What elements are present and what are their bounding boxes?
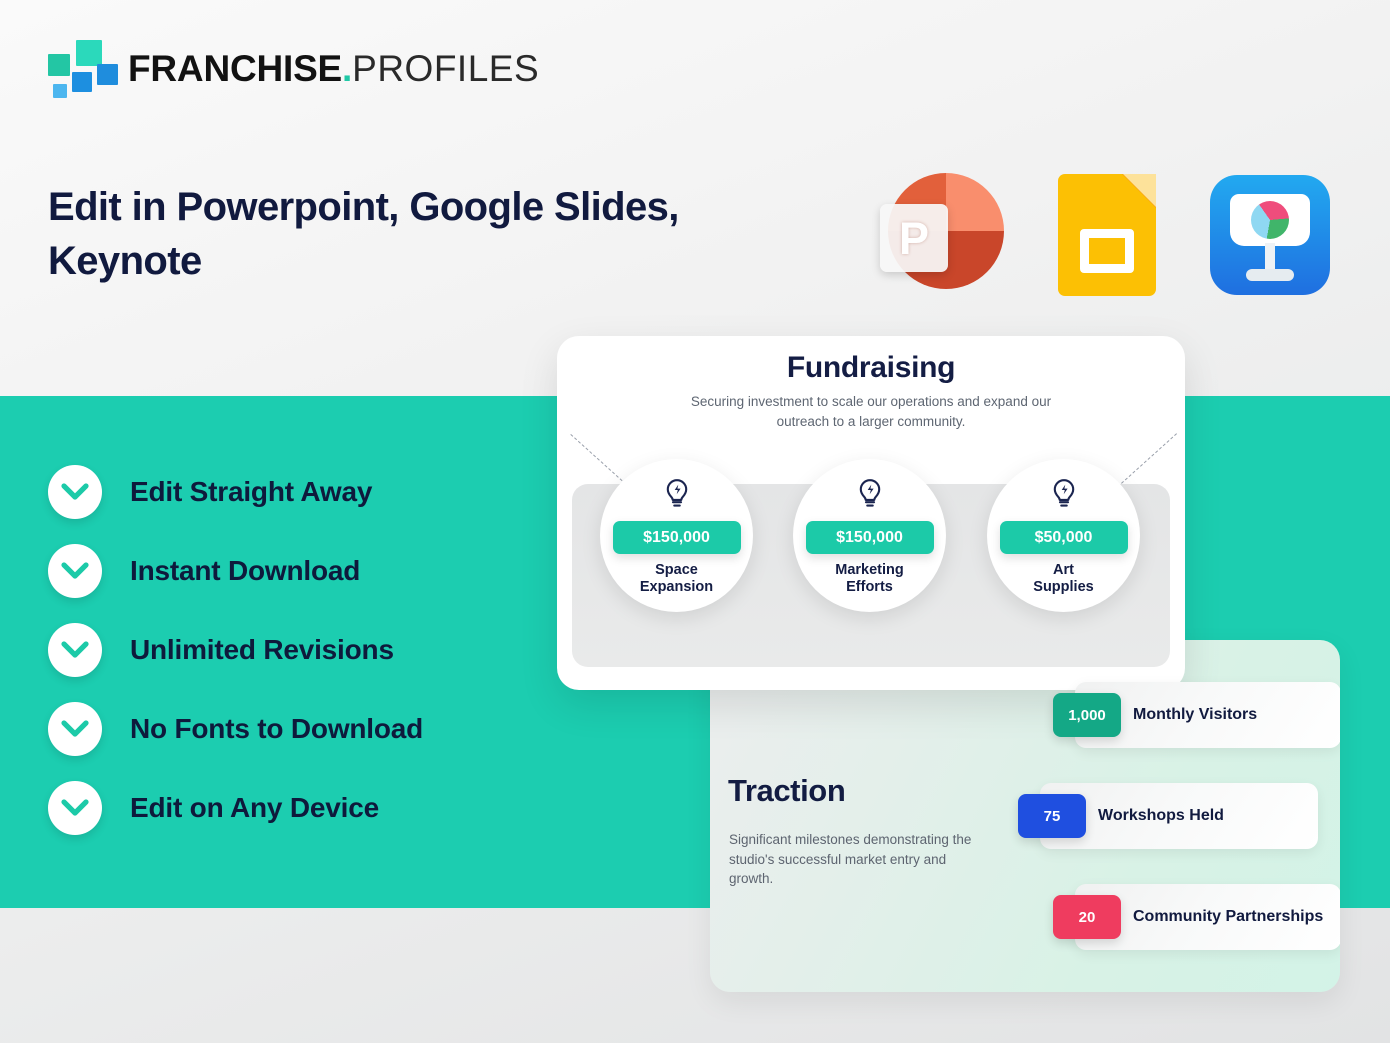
node-caption-line1: Art: [1053, 562, 1074, 578]
logo-wordmark: FRANCHISE.PROFILES: [128, 50, 539, 87]
supported-apps-row: P: [880, 173, 1330, 297]
feature-label: Edit on Any Device: [130, 792, 379, 824]
brand-logo[interactable]: FRANCHISE.PROFILES: [48, 40, 539, 96]
fundraising-node[interactable]: $150,000 Space Expansion: [600, 459, 753, 612]
feature-item-no-fonts-to-download[interactable]: No Fonts to Download: [48, 702, 423, 756]
page-headline: Edit in Powerpoint, Google Slides, Keyno…: [48, 180, 748, 289]
node-caption-line2: Efforts: [846, 579, 893, 595]
logo-squares-icon: [48, 40, 110, 96]
traction-title: Traction: [728, 773, 845, 809]
metric-value-badge: 75: [1018, 794, 1086, 838]
lightbulb-icon: [664, 478, 690, 515]
powerpoint-icon: P: [880, 173, 1004, 297]
chevron-down-icon: [48, 465, 102, 519]
traction-metric-row: 75 Workshops Held: [1018, 783, 1318, 849]
metric-label: Workshops Held: [1098, 806, 1224, 826]
node-caption-line2: Supplies: [1033, 579, 1093, 595]
feature-label: Instant Download: [130, 555, 360, 587]
traction-slide-preview[interactable]: Traction Significant milestones demonstr…: [710, 640, 1340, 992]
node-caption-line2: Expansion: [640, 579, 713, 595]
feature-item-instant-download[interactable]: Instant Download: [48, 544, 423, 598]
node-caption: Space Expansion: [640, 562, 713, 596]
metric-value-badge: 20: [1053, 895, 1121, 939]
node-caption: Art Supplies: [1033, 562, 1093, 596]
powerpoint-letter: P: [899, 216, 929, 261]
fundraising-nodes: $150,000 Space Expansion $150,000: [557, 336, 1185, 690]
chevron-down-icon: [48, 544, 102, 598]
feature-item-edit-on-any-device[interactable]: Edit on Any Device: [48, 781, 423, 835]
node-caption: Marketing Efforts: [835, 562, 904, 596]
logo-word-thin: PROFILES: [352, 48, 539, 89]
google-slides-icon: [1058, 174, 1156, 296]
metric-label: Community Partnerships: [1133, 907, 1323, 927]
chevron-down-icon: [48, 702, 102, 756]
feature-list: Edit Straight Away Instant Download Unli…: [48, 465, 423, 835]
slide-canvas: FRANCHISE.PROFILES Edit in Powerpoint, G…: [0, 0, 1390, 1043]
fundraising-node[interactable]: $50,000 Art Supplies: [987, 459, 1140, 612]
feature-label: No Fonts to Download: [130, 713, 423, 745]
keynote-pie-chart: [1251, 201, 1289, 239]
feature-item-edit-straight-away[interactable]: Edit Straight Away: [48, 465, 423, 519]
feature-label: Unlimited Revisions: [130, 634, 394, 666]
node-caption-line1: Space: [655, 562, 698, 578]
keynote-icon: [1210, 175, 1330, 295]
feature-item-unlimited-revisions[interactable]: Unlimited Revisions: [48, 623, 423, 677]
fundraising-slide-preview[interactable]: Fundraising Securing investment to scale…: [557, 336, 1185, 690]
traction-subtitle: Significant milestones demonstrating the…: [729, 830, 991, 889]
powerpoint-tile: P: [880, 204, 948, 272]
feature-label: Edit Straight Away: [130, 476, 372, 508]
chevron-down-icon: [48, 781, 102, 835]
metric-label: Monthly Visitors: [1133, 705, 1257, 725]
slides-screen-shape: [1080, 229, 1134, 273]
node-amount-badge: $50,000: [1000, 521, 1128, 554]
traction-metric-row: 20 Community Partnerships: [1053, 884, 1340, 950]
logo-word-bold: FRANCHISE: [128, 48, 342, 89]
fundraising-node[interactable]: $150,000 Marketing Efforts: [793, 459, 946, 612]
lightbulb-icon: [857, 478, 883, 515]
node-caption-line1: Marketing: [835, 562, 904, 578]
lightbulb-icon: [1051, 478, 1077, 515]
traction-metric-row: 1,000 Monthly Visitors: [1053, 682, 1340, 748]
chevron-down-icon: [48, 623, 102, 677]
keynote-stand-base: [1246, 269, 1294, 281]
node-amount-badge: $150,000: [806, 521, 934, 554]
logo-word-dot: .: [342, 48, 352, 89]
metric-value-badge: 1,000: [1053, 693, 1121, 737]
node-amount-badge: $150,000: [613, 521, 741, 554]
